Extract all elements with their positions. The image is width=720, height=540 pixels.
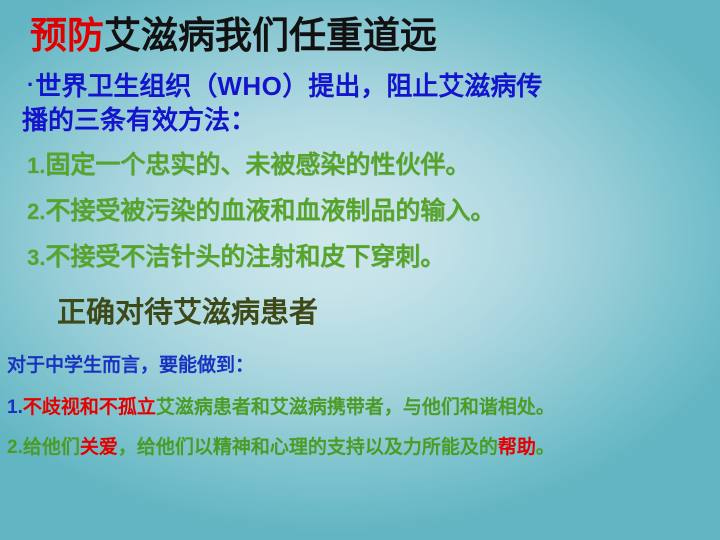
rule-item-1: 1.固定一个忠实的、未被感染的性伙伴。 <box>27 150 470 181</box>
action-item-2-period: 。 <box>536 437 555 458</box>
action-item-2-lead: 给他们 <box>23 437 80 458</box>
leadin-line: 对于中学生而言，要能做到： <box>7 354 254 378</box>
rule-item-3: 3.不接受不洁针头的注射和皮下穿刺。 <box>27 242 445 273</box>
action-item-2-emphasis-1: 关爱 <box>80 437 118 458</box>
action-item-1-tail: 艾滋病患者和艾滋病携带者，与他们和谐相处。 <box>156 397 555 418</box>
who-text-before-abbr: 世界卫生组织（ <box>35 71 217 101</box>
action-item-2-emphasis-2: 帮助 <box>498 437 536 458</box>
leadin-text: 对于中学生而言，要能做到： <box>7 355 254 376</box>
action-item-2-number: 2. <box>7 437 23 458</box>
who-text-after-abbr: ）提出，阻止艾滋病传 <box>282 71 542 101</box>
slide-title-highlight: 预防 <box>30 15 104 56</box>
action-item-2: 2.给他们关爱，给他们以精神和心理的支持以及力所能及的帮助。 <box>7 436 555 460</box>
who-paragraph-line-2-text: 播的三条有效方法： <box>22 105 256 135</box>
action-item-1-number: 1. <box>7 397 23 418</box>
who-paragraph-line-1: ·世界卫生组织（WHO）提出，阻止艾滋病传 <box>27 69 542 102</box>
section-heading-text: 正确对待艾滋病患者 <box>57 297 318 329</box>
slide-title-rest: 艾滋病我们任重道远 <box>104 15 437 56</box>
slide-canvas: 预防艾滋病我们任重道远 ·世界卫生组织（WHO）提出，阻止艾滋病传 播的三条有效… <box>0 0 720 540</box>
rule-item-2-text: 不接受被污染的血液和血液制品的输入。 <box>45 197 495 225</box>
rule-item-3-text: 不接受不洁针头的注射和皮下穿刺。 <box>45 243 445 271</box>
bullet-dot-icon: · <box>27 72 34 97</box>
rule-item-2: 2.不接受被污染的血液和血液制品的输入。 <box>27 196 495 227</box>
rule-item-3-number: 3. <box>27 245 45 270</box>
action-item-1: 1.不歧视和不孤立艾滋病患者和艾滋病携带者，与他们和谐相处。 <box>7 396 555 420</box>
who-paragraph-line-2: 播的三条有效方法： <box>22 105 256 136</box>
action-item-2-middle: ，给他们以精神和心理的支持以及力所能及的 <box>118 437 498 458</box>
slide-title: 预防艾滋病我们任重道远 <box>30 15 437 57</box>
who-abbreviation: WHO <box>217 71 282 101</box>
section-heading: 正确对待艾滋病患者 <box>57 296 318 330</box>
rule-item-1-number: 1. <box>27 153 45 178</box>
action-item-1-emphasis: 不歧视和不孤立 <box>23 397 156 418</box>
rule-item-1-text: 固定一个忠实的、未被感染的性伙伴。 <box>45 151 470 179</box>
rule-item-2-number: 2. <box>27 199 45 224</box>
